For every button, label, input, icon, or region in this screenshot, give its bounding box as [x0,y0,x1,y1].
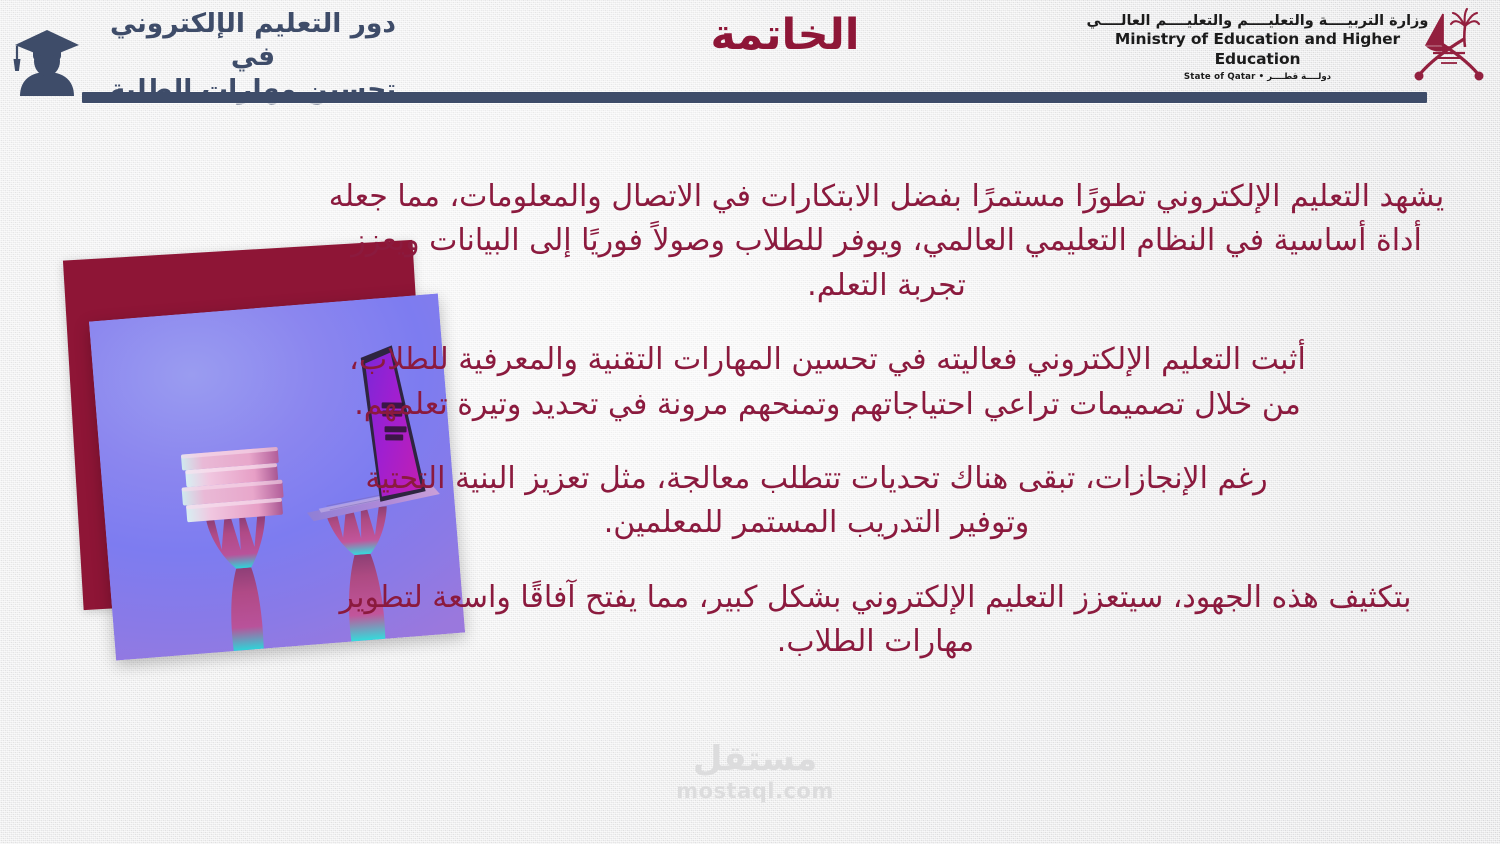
page-title: الخاتمة [555,14,1015,57]
slide-canvas: دور التعليم الإلكتروني في تحسين مهارات ا… [0,0,1500,844]
header-divider [82,92,1427,103]
graduate-cap-icon [8,14,86,96]
slide-body-text: يشهد التعليم الإلكتروني تطورًا مستمرًا ب… [300,175,1475,691]
body-paragraph-3: رغم الإنجازات، تبقى هناك تحديات تتطلب مع… [300,457,1475,546]
ministry-name-english: Ministry of Education and Higher Educati… [1085,30,1430,69]
watermark-english: mostaql.com [640,776,870,808]
body-paragraph-2: أثبت التعليم الإلكتروني فعاليته في تحسين… [300,338,1475,427]
ministry-state-line: دولــــة قطــــر • State of Qatar [1085,71,1430,84]
body-paragraph-4: بتكثيف هذه الجهود، سيتعزز التعليم الإلكت… [300,576,1475,665]
body-paragraph-1: يشهد التعليم الإلكتروني تطورًا مستمرًا ب… [300,175,1475,308]
ministry-name-arabic: وزارة التربيــــة والتعليــــم والتعليــ… [1085,12,1430,30]
presentation-title-line1: دور التعليم الإلكتروني في [96,8,410,74]
ministry-wordmark: وزارة التربيــــة والتعليــــم والتعليــ… [1085,12,1430,84]
qatar-state-emblem-icon [1412,6,1486,82]
slide-header: دور التعليم الإلكتروني في تحسين مهارات ا… [0,0,1500,112]
left-fork [206,516,275,652]
book-stack [179,447,285,523]
watermark-arabic: مستقل [640,742,870,776]
mostaql-watermark: مستقل mostaql.com [640,742,870,822]
